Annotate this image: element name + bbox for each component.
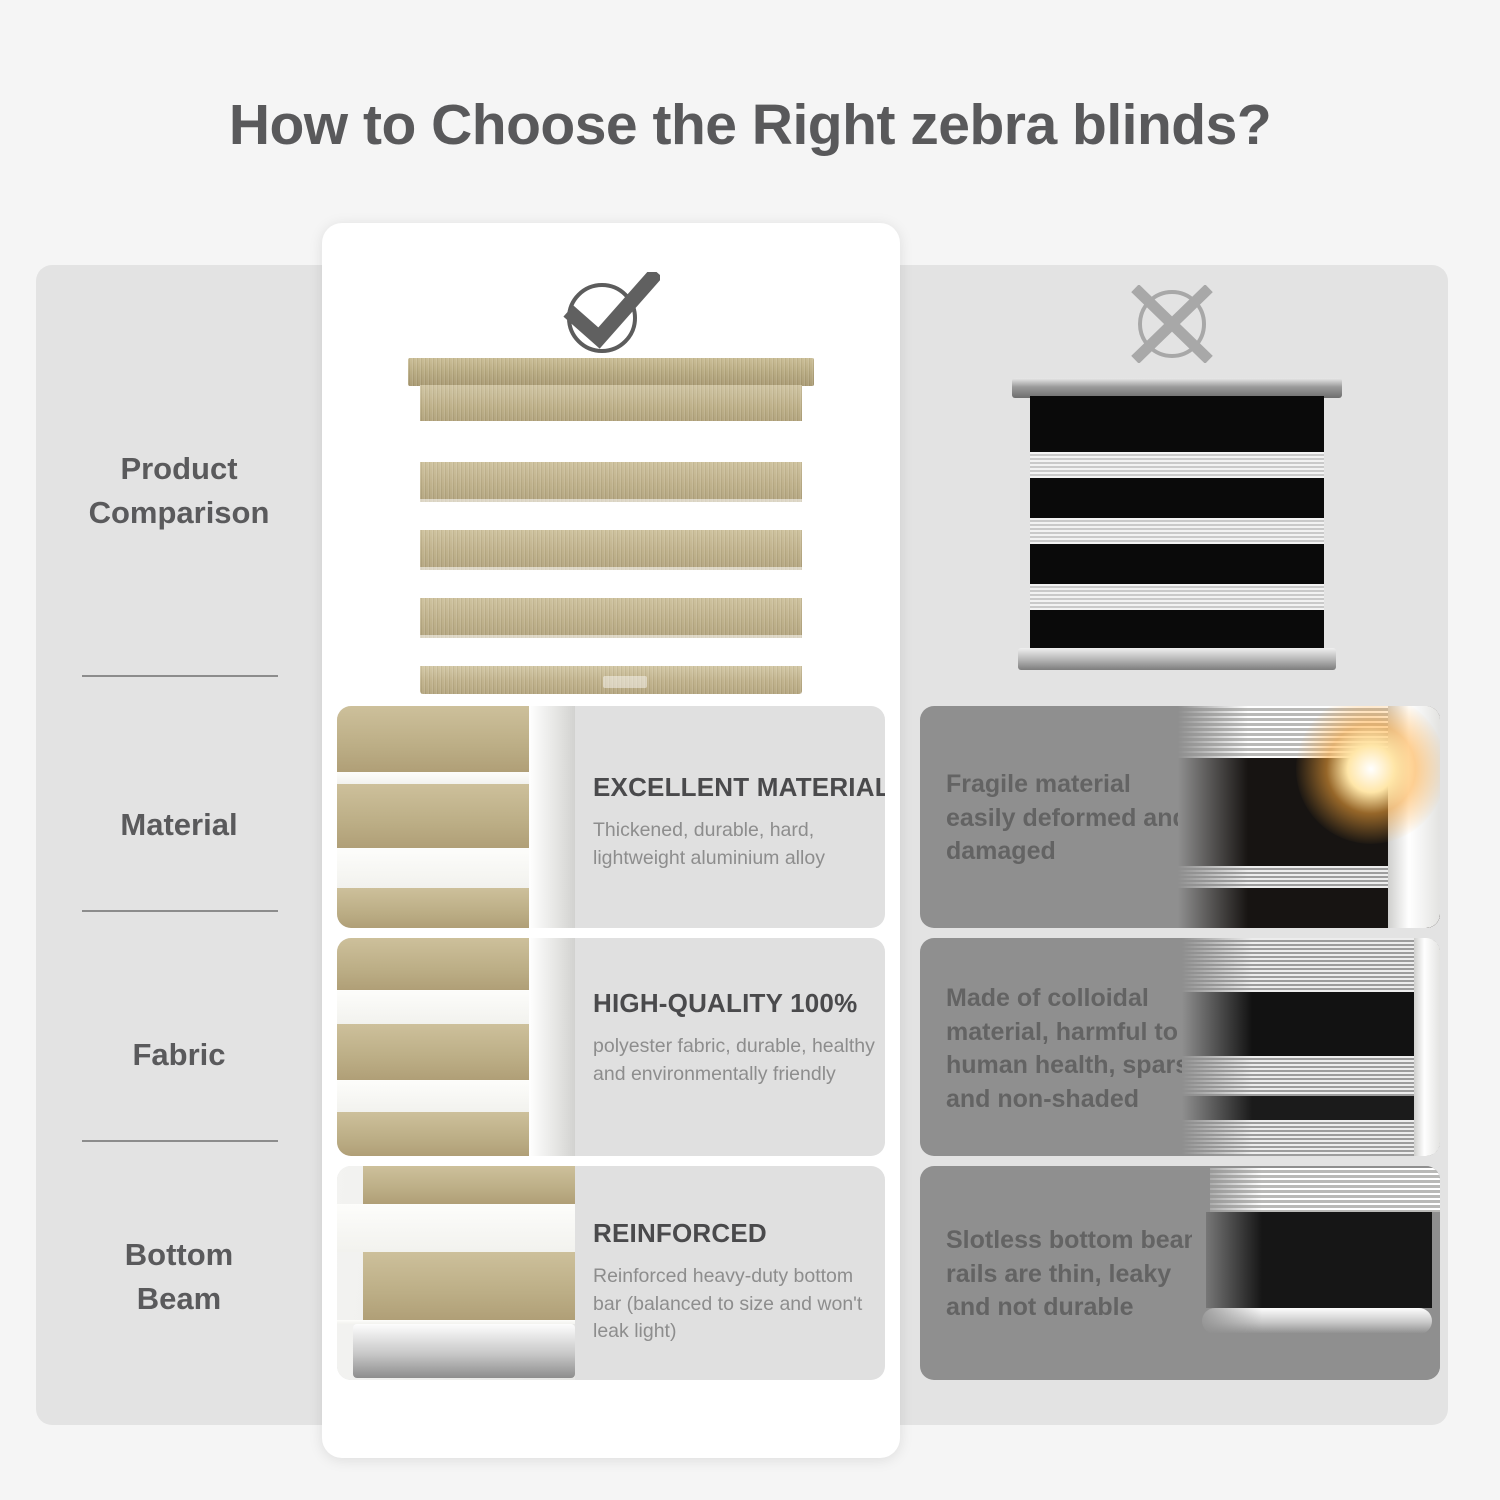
rail-divider-3	[82, 1140, 278, 1142]
hero-good-blind-image	[408, 358, 814, 698]
rail-label-material: Material	[36, 803, 322, 847]
good-card-fabric-title: HIGH-QUALITY 100%	[593, 988, 883, 1019]
page-title: How to Choose the Right zebra blinds?	[0, 92, 1500, 158]
blind-headrail	[1012, 378, 1342, 398]
hero-bad-blind-image	[1012, 378, 1342, 670]
bad-card-bottom-beam-image	[1192, 1166, 1440, 1380]
good-card-bottom-beam-image	[337, 1166, 575, 1380]
bad-card-material-text: Fragile material easily deformed and dam…	[946, 768, 1196, 869]
rail-label-line1: Material	[120, 807, 237, 842]
good-card-bottom-beam: REINFORCED Reinforced heavy-duty bottom …	[337, 1166, 885, 1380]
blind-top-slat	[420, 385, 802, 421]
bad-card-fabric: Made of colloidal material, harmful to h…	[920, 938, 1440, 1156]
good-card-material-image	[337, 706, 575, 928]
infographic-page: How to Choose the Right zebra blinds? Pr…	[0, 0, 1500, 1500]
rail-label-fabric: Fabric	[36, 1033, 322, 1077]
good-card-fabric-body: polyester fabric, durable, healthy and e…	[593, 1033, 883, 1088]
bad-card-fabric-text: Made of colloidal material, harmful to h…	[946, 982, 1214, 1116]
rail-label-line1: Fabric	[132, 1037, 225, 1072]
blind-bottom-bar	[420, 666, 802, 694]
rail-divider-1	[82, 675, 278, 677]
good-card-material: EXCELLENT MATERIAL Thickened, durable, h…	[337, 706, 885, 928]
bad-card-material-image	[1178, 706, 1440, 928]
rail-label-line2: Beam	[137, 1281, 221, 1316]
blind-headrail	[408, 358, 814, 386]
category-rail: Product Comparison Material Fabric Botto…	[36, 265, 322, 1425]
blind-slat	[420, 598, 802, 638]
rail-divider-2	[82, 910, 278, 912]
good-card-bottom-beam-title: REINFORCED	[593, 1218, 883, 1249]
check-circle-icon	[556, 272, 660, 356]
good-card-fabric: HIGH-QUALITY 100% polyester fabric, dura…	[337, 938, 885, 1156]
rail-label-product-comparison: Product Comparison	[36, 447, 322, 535]
rail-label-bottom-beam: Bottom Beam	[36, 1233, 322, 1321]
rail-label-line1: Bottom	[125, 1237, 233, 1272]
rail-label-line2: Comparison	[89, 495, 270, 530]
good-card-material-body: Thickened, durable, hard, lightweight al…	[593, 817, 873, 872]
bad-card-bottom-beam-text: Slotless bottom beam rails are thin, lea…	[946, 1224, 1208, 1325]
bad-card-fabric-image	[1182, 938, 1440, 1156]
bad-card-material: Fragile material easily deformed and dam…	[920, 706, 1440, 928]
good-card-material-title: EXCELLENT MATERIAL	[593, 772, 873, 803]
good-card-fabric-image	[337, 938, 575, 1156]
blind-slat	[420, 462, 802, 502]
rail-label-line1: Product	[120, 451, 237, 486]
blind-bottom-bar	[1018, 648, 1336, 670]
cross-circle-icon	[1130, 285, 1214, 363]
blind-slat	[420, 530, 802, 570]
blind-fabric	[1030, 396, 1324, 648]
bad-card-bottom-beam: Slotless bottom beam rails are thin, lea…	[920, 1166, 1440, 1380]
good-card-bottom-beam-body: Reinforced heavy-duty bottom bar (balanc…	[593, 1263, 883, 1346]
